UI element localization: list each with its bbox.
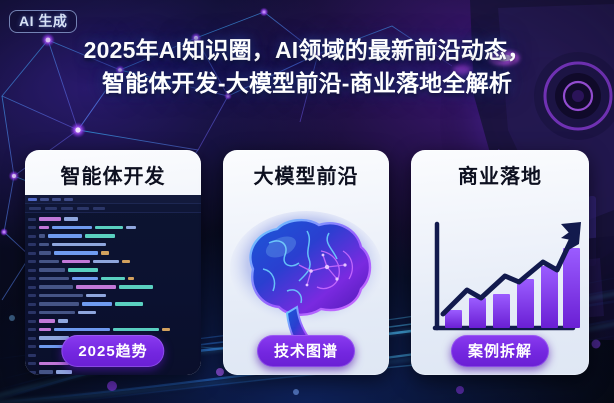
poster-canvas: AI 生成 2025年AI知识圈，AI领域的最新前沿动态， 智能体开发-大模型前… xyxy=(0,0,614,403)
button-tech-map[interactable]: 技术图谱 xyxy=(257,335,355,367)
card-title-commercial-landing: 商业落地 xyxy=(458,160,542,189)
card-agent-development[interactable]: 智能体开发 xyxy=(25,150,201,375)
page-title: 2025年AI知识圈，AI领域的最新前沿动态， 智能体开发-大模型前沿-商业落地… xyxy=(0,34,614,99)
code-editor-titlebar xyxy=(25,195,201,204)
card-title-agent-development: 智能体开发 xyxy=(61,160,166,189)
ai-generated-badge: AI 生成 xyxy=(9,10,77,33)
card-large-model-frontier[interactable]: 大模型前沿 xyxy=(223,150,389,375)
title-line-1: 2025年AI知识圈，AI领域的最新前沿动态， xyxy=(84,37,531,63)
card-row: 智能体开发 xyxy=(0,150,614,375)
code-editor-tabbar xyxy=(25,204,201,213)
title-line-2: 智能体开发-大模型前沿-商业落地全解析 xyxy=(14,67,600,100)
button-case-analysis[interactable]: 案例拆解 xyxy=(451,335,549,367)
card-title-large-model-frontier: 大模型前沿 xyxy=(254,160,359,189)
button-2025-trend[interactable]: 2025趋势 xyxy=(61,335,164,367)
card-commercial-landing[interactable]: 商业落地 xyxy=(411,150,589,375)
